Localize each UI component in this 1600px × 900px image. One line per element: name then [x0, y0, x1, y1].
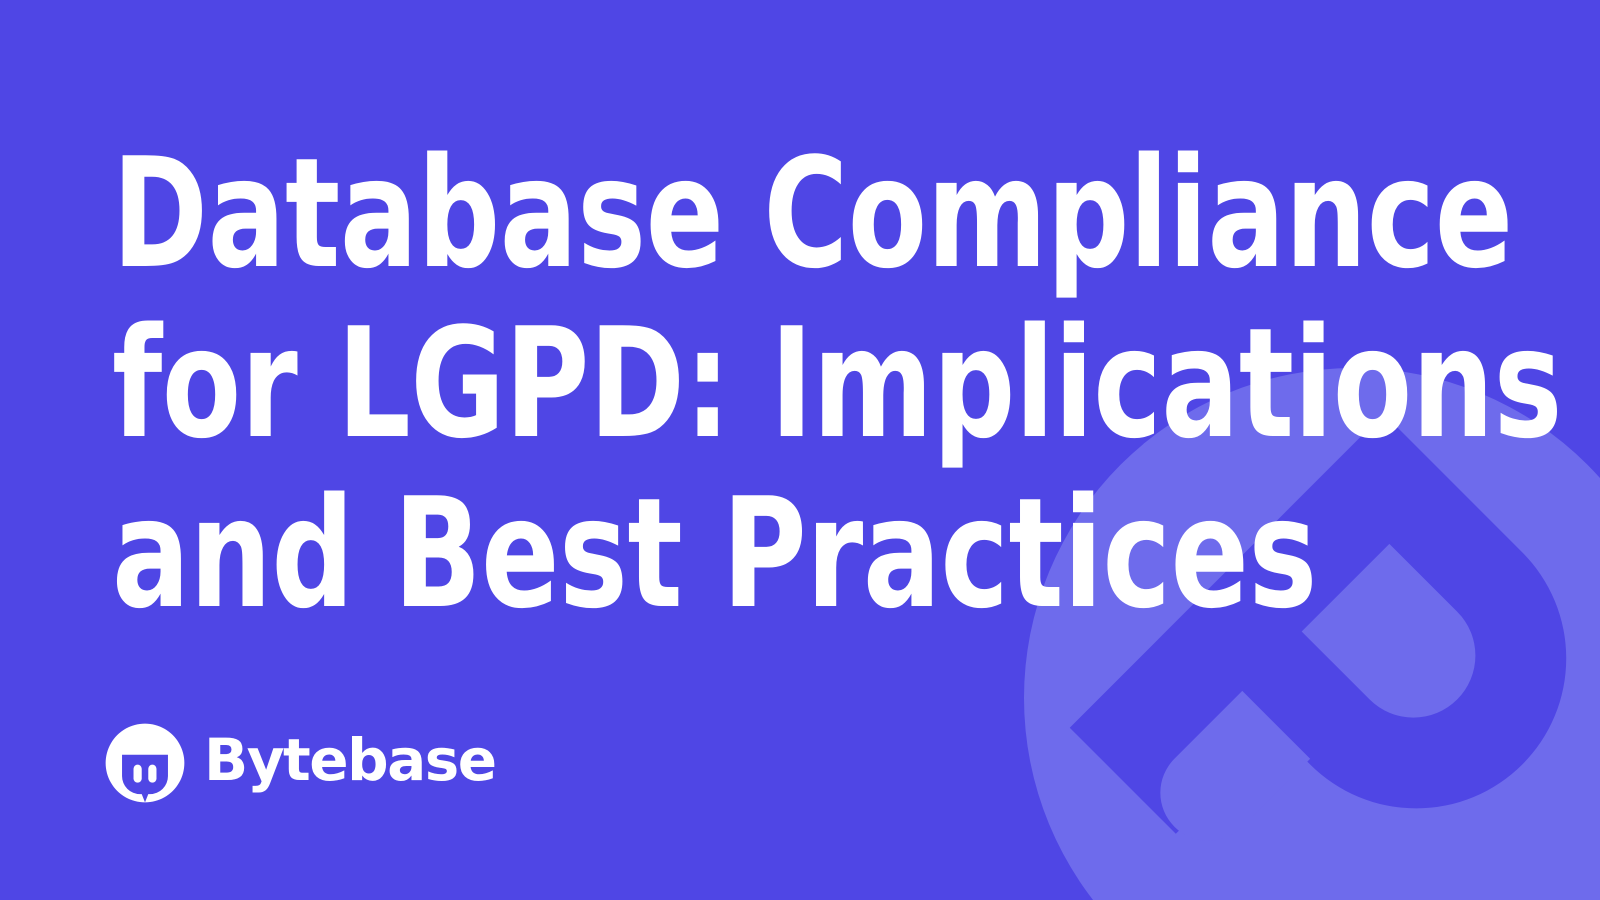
- bytebase-logo-mark-icon: [104, 722, 186, 804]
- bytebase-wordmark: Bytebase: [204, 732, 522, 794]
- blog-cover-card: Database Compliance for LGPD: Implicatio…: [0, 0, 1600, 900]
- brand-logo-lockup[interactable]: Bytebase: [104, 722, 522, 804]
- page-title-line-1: Database Compliance: [112, 129, 1202, 299]
- page-title: Database Compliance for LGPD: Implicatio…: [112, 129, 1402, 639]
- page-title-line-2: for LGPD: Implications: [112, 299, 1202, 469]
- bytebase-wordmark-text: Bytebase: [204, 732, 496, 794]
- page-title-line-3: and Best Practices: [112, 469, 1202, 639]
